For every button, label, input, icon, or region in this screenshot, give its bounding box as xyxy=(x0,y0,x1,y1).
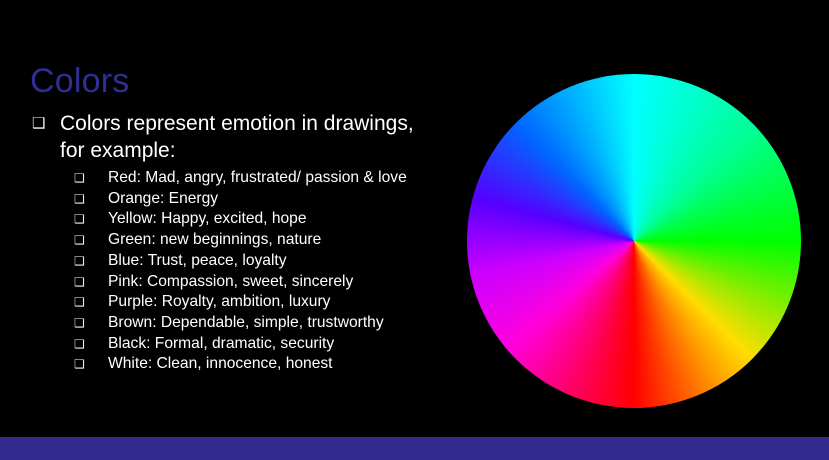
body-content: ❑ Colors represent emotion in drawings, … xyxy=(28,110,440,375)
box-bullet-icon: ❑ xyxy=(72,292,108,313)
list-item: ❑ Colors represent emotion in drawings, … xyxy=(28,110,440,164)
list-item-label: Orange: Energy xyxy=(108,189,440,210)
box-bullet-icon: ❑ xyxy=(72,251,108,272)
box-bullet-icon: ❑ xyxy=(72,209,108,230)
list-item: ❑ White: Clean, innocence, honest xyxy=(72,354,440,375)
color-wheel-image xyxy=(467,74,801,408)
box-bullet-icon: ❑ xyxy=(72,272,108,293)
list-item: ❑ Black: Formal, dramatic, security xyxy=(72,334,440,355)
list-item: ❑ Brown: Dependable, simple, trustworthy xyxy=(72,313,440,334)
list-item: ❑ Purple: Royalty, ambition, luxury xyxy=(72,292,440,313)
list-item: ❑ Green: new beginnings, nature xyxy=(72,230,440,251)
box-bullet-icon: ❑ xyxy=(72,189,108,210)
list-item-label: Brown: Dependable, simple, trustworthy xyxy=(108,313,440,334)
list-item-label: Blue: Trust, peace, loyalty xyxy=(108,251,440,272)
list-item-label: Purple: Royalty, ambition, luxury xyxy=(108,292,440,313)
list-item-label: Yellow: Happy, excited, hope xyxy=(108,209,440,230)
color-wheel-figure xyxy=(467,74,801,408)
box-bullet-icon: ❑ xyxy=(72,168,108,189)
list-item: ❑ Blue: Trust, peace, loyalty xyxy=(72,251,440,272)
color-meaning-list: ❑ Red: Mad, angry, frustrated/ passion &… xyxy=(28,168,440,375)
box-bullet-icon: ❑ xyxy=(72,313,108,334)
list-item: ❑ Yellow: Happy, excited, hope xyxy=(72,209,440,230)
list-item-label: Black: Formal, dramatic, security xyxy=(108,334,440,355)
page-title: Colors xyxy=(30,61,129,101)
list-item-label: Green: new beginnings, nature xyxy=(108,230,440,251)
box-bullet-icon: ❑ xyxy=(72,354,108,375)
list-item: ❑ Pink: Compassion, sweet, sincerely xyxy=(72,272,440,293)
box-bullet-icon: ❑ xyxy=(72,334,108,355)
list-item-label: Colors represent emotion in drawings, fo… xyxy=(60,110,440,164)
slide-accent-bar xyxy=(0,437,829,460)
list-item-label: Red: Mad, angry, frustrated/ passion & l… xyxy=(108,168,440,189)
list-item-label: Pink: Compassion, sweet, sincerely xyxy=(108,272,440,293)
box-bullet-icon: ❑ xyxy=(72,230,108,251)
box-bullet-icon: ❑ xyxy=(28,110,60,137)
list-item: ❑ Red: Mad, angry, frustrated/ passion &… xyxy=(72,168,440,189)
list-item: ❑ Orange: Energy xyxy=(72,189,440,210)
slide-canvas: Colors ❑ Colors represent emotion in dra… xyxy=(0,0,829,460)
list-item-label: White: Clean, innocence, honest xyxy=(108,354,440,375)
